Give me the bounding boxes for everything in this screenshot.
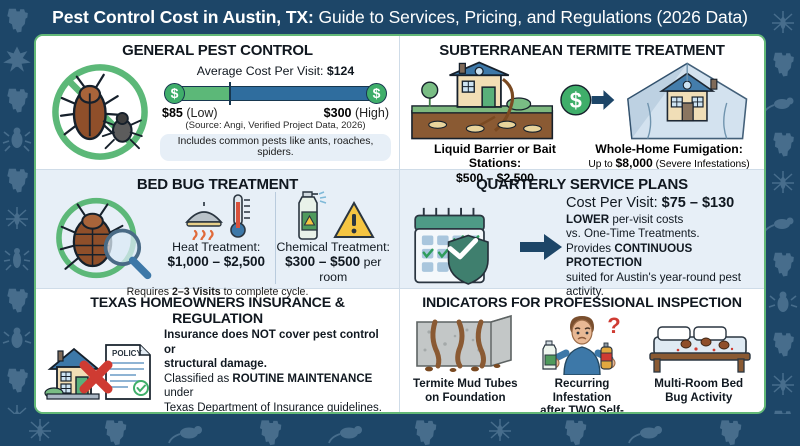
indicator-3-line2: Bug Activity <box>665 391 732 404</box>
infographic-root: Pest Control Cost in Austin, TX: Guide t… <box>0 0 800 446</box>
common-pests-pill: Includes common pests like ants, roaches… <box>160 134 391 161</box>
bed-bug-chemical-column: Chemical Treatment: $300 – $500 per room <box>275 192 392 284</box>
termite-title: SUBTERRANEAN TERMITE TREATMENT <box>408 42 756 59</box>
row-one: GENERAL PEST CONTROL <box>36 36 764 169</box>
quarterly-benefit-2: vs. One-Time Treatments. <box>566 227 756 241</box>
cost-transition-arrow-with-dollar-icon: $ <box>558 74 615 126</box>
left-decorative-band <box>0 0 34 446</box>
heat-lamp-icon <box>181 194 227 240</box>
insurance-bold-2: structural damage. <box>164 357 391 372</box>
indicator-3-line1: Multi-Room Bed <box>654 377 743 390</box>
quarterly-lower-bold: LOWER <box>566 213 609 226</box>
indicator-caption-3: Multi-Room BedBug Activity <box>641 377 756 404</box>
insurance-title: TEXAS HOMEOWNERS INSURANCE & REGULATION <box>44 295 391 327</box>
indicator-1-line1: Termite Mud Tubes <box>413 377 518 390</box>
question-mark-icon: ? <box>607 313 620 338</box>
quarterly-cost-value: $75 – $130 <box>662 195 735 211</box>
house-policy-not-covered-icon: POLICY <box>44 339 160 405</box>
indicator-item-mud-tubes: Termite Mud Tubeson Foundation <box>408 313 523 414</box>
bed-bug-title: BED BUG TREATMENT <box>44 176 391 193</box>
panel-insurance-regulation: TEXAS HOMEOWNERS INSURANCE & REGULATION <box>36 289 400 414</box>
quarterly-cost-label: Cost Per Visit: <box>566 195 662 211</box>
policy-doc-label: POLICY <box>112 349 142 358</box>
insurance-text-block: Insurance does NOT cover pest control or… <box>164 328 391 414</box>
termite-fumigation-note: (Severe Infestations) <box>653 159 750 170</box>
row-two: BED BUG TREATMENT <box>36 169 764 289</box>
confused-person-with-sprays-illustration: ? <box>528 313 636 375</box>
quarterly-benefit-1: LOWER per-visit costs <box>566 213 756 227</box>
indicator-2-line2: after TWO Self-Treatments <box>540 404 624 414</box>
page-title-sub: Guide to Services, Pricing, and Regulati… <box>314 7 748 27</box>
insurance-bold-1: Insurance does NOT cover pest control or <box>164 328 391 357</box>
quarterly-cost-line: Cost Per Visit: $75 – $130 <box>566 195 756 211</box>
cost-range-labels: $85 (Low) $300 (High) <box>160 105 391 120</box>
mud-tubes-on-concrete-illustration <box>411 314 519 374</box>
panel-bed-bug-treatment: BED BUG TREATMENT <box>36 170 400 288</box>
bed-bug-with-magnifier-icon <box>44 192 156 284</box>
warning-triangle-icon <box>333 200 375 240</box>
spray-bottle-icon <box>291 190 331 240</box>
insurance-classified-line: Classified as ROUTINE MAINTENANCE under <box>164 372 391 401</box>
low-cost-value: $85 <box>162 106 183 120</box>
thermometer-icon <box>229 192 251 240</box>
house-with-termite-tunnels-illustration <box>408 59 556 141</box>
page-title-bold: Pest Control Cost in Austin, TX: <box>52 7 314 27</box>
panel-general-pest-control: GENERAL PEST CONTROL <box>36 36 400 169</box>
cost-range-bar: $ $ <box>164 81 387 105</box>
low-cost-label: $85 (Low) <box>162 106 218 120</box>
quarterly-lower-rest: per-visit costs <box>609 213 683 226</box>
row-three: TEXAS HOMEOWNERS INSURANCE & REGULATION <box>36 289 764 414</box>
cost-bar-high-segment <box>231 87 376 100</box>
page-title: Pest Control Cost in Austin, TX: Guide t… <box>52 7 748 28</box>
left-spray-bottle-icon <box>543 341 556 369</box>
average-cost-line: Average Cost Per Visit: $124 <box>160 64 391 78</box>
indicator-item-recurring-infestation: ? <box>525 313 640 414</box>
termite-liquid-label: Liquid Barrier or Bait Stations: <box>434 142 556 170</box>
left-band-pattern <box>0 0 34 446</box>
insurance-routine-maintenance: ROUTINE MAINTENANCE <box>232 373 372 385</box>
insurance-tdi-line: Texas Department of Insurance guidelines… <box>164 401 391 414</box>
dollar-coin-low-icon: $ <box>164 83 185 104</box>
low-cost-note: (Low) <box>183 106 218 120</box>
heat-treatment-value: $1,000 – $2,500 <box>158 254 275 269</box>
quarterly-benefit-3: Provides CONTINUOUS PROTECTION <box>566 242 756 271</box>
high-cost-note: (High) <box>351 106 389 120</box>
high-cost-label: $300 (High) <box>324 106 389 120</box>
termite-fumigation-price: $8,000 <box>616 156 653 170</box>
quarterly-title: QUARTERLY SERVICE PLANS <box>408 176 756 193</box>
bottom-band-pattern <box>0 414 800 446</box>
cockroach-and-spider-no-pests-icon <box>44 60 156 164</box>
termite-fumigation-upto: Up to <box>588 159 615 170</box>
high-cost-value: $300 <box>324 106 352 120</box>
content-card: GENERAL PEST CONTROL <box>34 34 766 414</box>
right-arrow-icon <box>520 232 562 262</box>
quarterly-provides-pre: Provides <box>566 242 614 255</box>
svg-text:$: $ <box>570 88 582 113</box>
chemical-treatment-label: Chemical Treatment: <box>276 240 392 254</box>
right-decorative-band <box>766 0 800 446</box>
chemical-treatment-value: $300 – $500 per room <box>276 254 392 284</box>
calendar-with-shield-check-icon <box>408 204 516 290</box>
chemical-treatment-price: $300 – $500 <box>285 254 360 269</box>
panel-inspection-indicators: INDICATORS FOR PROFESSIONAL INSPECTION <box>400 289 764 414</box>
cost-source-note: (Source: Angi, Verified Project Data, 20… <box>160 120 391 131</box>
indicators-title: INDICATORS FOR PROFESSIONAL INSPECTION <box>408 295 756 311</box>
indicator-1-line2: on Foundation <box>425 391 506 404</box>
right-spray-can-icon <box>601 343 612 369</box>
indicator-caption-1: Termite Mud Tubeson Foundation <box>408 377 523 404</box>
header-bar: Pest Control Cost in Austin, TX: Guide t… <box>34 0 766 34</box>
bottom-decorative-band <box>0 414 800 446</box>
average-cost-value: $124 <box>327 64 354 78</box>
average-cost-marker <box>229 82 231 105</box>
panel-subterranean-termite: SUBTERRANEAN TERMITE TREATMENT <box>400 36 764 169</box>
average-cost-label: Average Cost Per Visit: <box>197 64 327 78</box>
bed-with-bed-bugs-illustration <box>644 315 754 373</box>
right-band-pattern <box>766 0 800 446</box>
panel-quarterly-service-plans: QUARTERLY SERVICE PLANS <box>400 170 764 288</box>
heat-treatment-label: Heat Treatment: <box>158 240 275 254</box>
insurance-classified-pre: Classified as <box>164 373 232 385</box>
dollar-coin-high-icon: $ <box>366 83 387 104</box>
indicator-caption-2: Recurring Infestationafter TWO Self-Trea… <box>525 377 640 414</box>
tented-house-fumigation-illustration <box>618 59 756 141</box>
insurance-classified-post: under <box>164 387 193 399</box>
termite-fumigation-label: Whole-Home Fumigation: <box>595 142 743 156</box>
indicator-item-bed-bug-activity: Multi-Room BedBug Activity <box>641 313 756 414</box>
indicator-2-line1: Recurring Infestation <box>553 377 612 404</box>
bed-bug-heat-column: Heat Treatment: $1,000 – $2,500 <box>158 192 275 284</box>
general-pest-title: GENERAL PEST CONTROL <box>44 42 391 59</box>
cost-bar-track <box>174 86 377 101</box>
